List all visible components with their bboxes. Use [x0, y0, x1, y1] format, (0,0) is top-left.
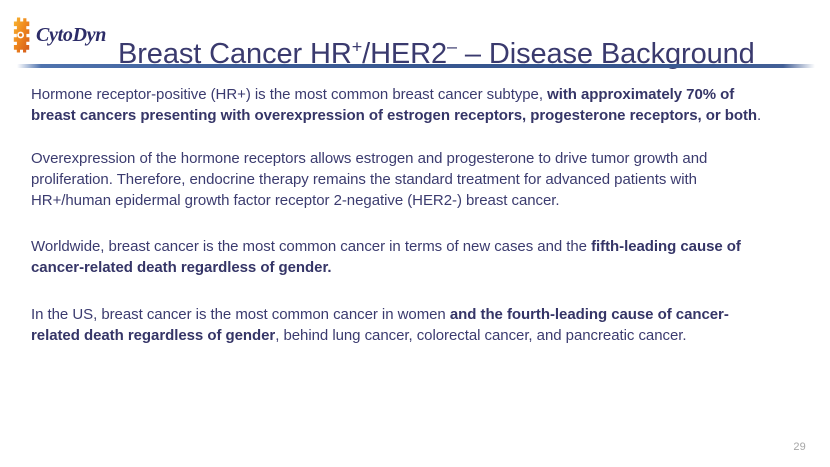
text-run: Hormone receptor-positive (HR+) is the m… [31, 86, 547, 103]
body-paragraph-2: Overexpression of the hormone receptors … [31, 148, 771, 211]
page-title-superscript-minus: – [447, 37, 457, 57]
page-title-superscript-plus: + [352, 37, 362, 57]
text-run: Worldwide, breast cancer is the most com… [31, 238, 591, 255]
cytodyn-wordmark: CytoDyn [36, 25, 106, 45]
title-divider [17, 64, 815, 68]
body-paragraph-1: Hormone receptor-positive (HR+) is the m… [31, 84, 783, 126]
cytodyn-logo: CytoDyn [8, 17, 106, 53]
slide-body-content: Hormone receptor-positive (HR+) is the m… [31, 84, 791, 346]
slide-header: CytoDyn Breast Cancer HR+/HER2– – Diseas… [0, 0, 830, 70]
text-run: In the US, breast cancer is the most com… [31, 306, 450, 323]
page-number: 29 [793, 441, 806, 453]
cytodyn-molecule-icon [8, 17, 34, 53]
body-paragraph-4: In the US, breast cancer is the most com… [31, 304, 743, 346]
text-run: . [757, 107, 761, 124]
text-run: Overexpression of the hormone receptors … [31, 150, 707, 209]
body-paragraph-3: Worldwide, breast cancer is the most com… [31, 236, 787, 278]
text-run: , behind lung cancer, colorectal cancer,… [275, 327, 686, 344]
